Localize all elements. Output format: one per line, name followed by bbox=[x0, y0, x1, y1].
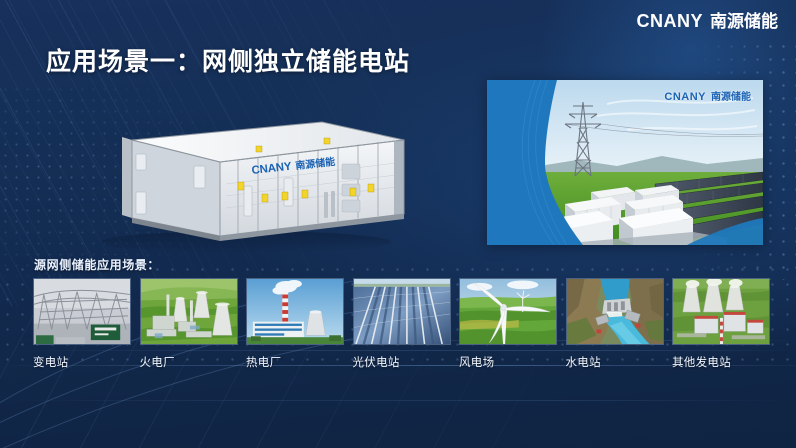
cogeneration-plant-thumb[interactable] bbox=[246, 278, 344, 345]
brand-logo: CNANY 南源储能 bbox=[636, 12, 778, 30]
thumbnail-item[interactable]: 水电站 bbox=[566, 278, 664, 370]
thumbnail-item[interactable]: 热电厂 bbox=[246, 278, 344, 370]
section-label: 源网侧储能应用场景： bbox=[34, 256, 160, 273]
thumbnail-label: 风电场 bbox=[459, 354, 557, 370]
panel-brand-logo: CNANY 南源储能 bbox=[664, 92, 751, 103]
hydro-dam-thumb[interactable] bbox=[566, 278, 664, 345]
cogeneration-plant-icon bbox=[247, 279, 343, 344]
substation-icon bbox=[34, 279, 130, 344]
thumbnail-label: 变电站 bbox=[33, 354, 131, 370]
storage-farm-panel: CNANY 南源储能 bbox=[487, 80, 763, 245]
storage-farm-illustration bbox=[487, 80, 763, 245]
brand-logo-mark: CNANY bbox=[636, 12, 703, 30]
wind-farm-icon bbox=[460, 279, 556, 344]
thumbnail-item[interactable]: 火电厂 bbox=[140, 278, 238, 370]
thumbnail-item[interactable]: 风电场 bbox=[459, 278, 557, 370]
hydro-dam-icon bbox=[567, 279, 663, 344]
thumbnail-label: 光伏电站 bbox=[353, 354, 451, 370]
storage-container-render: CNANY 南源储能 bbox=[86, 96, 416, 256]
storage-farm-image bbox=[487, 80, 763, 245]
thermal-plant-icon bbox=[141, 279, 237, 344]
thumbnail-item[interactable]: 光伏电站 bbox=[353, 278, 451, 370]
solar-farm-thumb[interactable] bbox=[353, 278, 451, 345]
storage-container-illustration: CNANY 南源储能 bbox=[86, 96, 416, 256]
nuclear-plant-thumb[interactable] bbox=[672, 278, 770, 345]
thumbnail-label: 火电厂 bbox=[140, 354, 238, 370]
thumbnail-item[interactable]: 变电站 bbox=[33, 278, 131, 370]
thumbnail-label: 热电厂 bbox=[246, 354, 344, 370]
nuclear-plant-icon bbox=[673, 279, 769, 344]
wind-farm-thumb[interactable] bbox=[459, 278, 557, 345]
brand-logo-chinese: 南源储能 bbox=[710, 13, 778, 30]
panel-logo-mark: CNANY bbox=[664, 92, 706, 103]
substation-thumb[interactable] bbox=[33, 278, 131, 345]
solar-farm-icon bbox=[354, 279, 450, 344]
thermal-plant-thumb[interactable] bbox=[140, 278, 238, 345]
thumbnail-label: 水电站 bbox=[566, 354, 664, 370]
thumbnail-item[interactable]: 其他发电站 bbox=[672, 278, 770, 370]
thumbnail-label: 其他发电站 bbox=[672, 354, 770, 370]
scenario-thumbnail-strip: 变电站 bbox=[33, 278, 763, 370]
page-title: 应用场景一：网侧独立储能电站 bbox=[46, 42, 410, 78]
panel-logo-chinese: 南源储能 bbox=[711, 93, 751, 103]
slide-canvas: CNANY 南源储能 应用场景一：网侧独立储能电站 bbox=[0, 0, 796, 448]
